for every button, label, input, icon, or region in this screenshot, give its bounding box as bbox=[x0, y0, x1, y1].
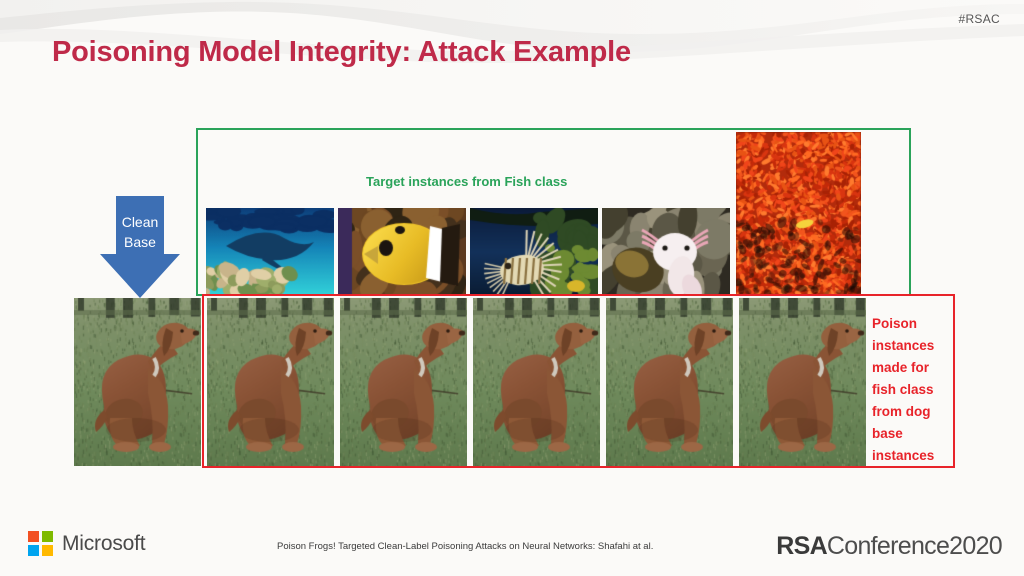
microsoft-wordmark: Microsoft bbox=[62, 532, 145, 556]
poison-label-line-3: made for bbox=[872, 357, 954, 379]
down-arrow-icon bbox=[100, 196, 180, 298]
poison-instances-label: Poison instances made for fish class fro… bbox=[872, 313, 954, 467]
poison-label-line-7: instances bbox=[872, 445, 954, 467]
microsoft-logo: Microsoft bbox=[28, 531, 145, 556]
rsac-hashtag: #RSAC bbox=[958, 12, 1000, 26]
slide-canvas: #RSAC Poisoning Model Integrity: Attack … bbox=[0, 0, 1024, 576]
poison-instances-group-box bbox=[202, 294, 955, 468]
clean-base-arrow: Clean Base bbox=[100, 196, 180, 298]
poison-image-dog-base-clean bbox=[74, 298, 201, 466]
rsa-logo-light: Conference2020 bbox=[827, 532, 1002, 560]
target-instances-label: Target instances from Fish class bbox=[366, 174, 567, 189]
poison-label-line-1: Poison bbox=[872, 313, 954, 335]
target-image-manta-ray-reef bbox=[206, 208, 334, 296]
target-image-lionfish bbox=[470, 208, 598, 296]
source-citation: Poison Frogs! Targeted Clean-Label Poiso… bbox=[277, 541, 653, 552]
rsa-logo-bold: RSA bbox=[776, 532, 827, 560]
poison-label-line-6: base bbox=[872, 423, 954, 445]
poison-label-line-2: instances bbox=[872, 335, 954, 357]
target-image-white-axolotl bbox=[602, 208, 730, 296]
rsa-conference-logo: RSAConference2020 bbox=[776, 532, 1002, 561]
poison-label-line-4: fish class bbox=[872, 379, 954, 401]
microsoft-squares-icon bbox=[28, 531, 53, 556]
target-image-goldfish-school bbox=[736, 132, 861, 296]
target-image-yellow-butterflyfish bbox=[338, 208, 466, 296]
page-title: Poisoning Model Integrity: Attack Exampl… bbox=[52, 36, 631, 69]
poison-label-line-5: from dog bbox=[872, 401, 954, 423]
